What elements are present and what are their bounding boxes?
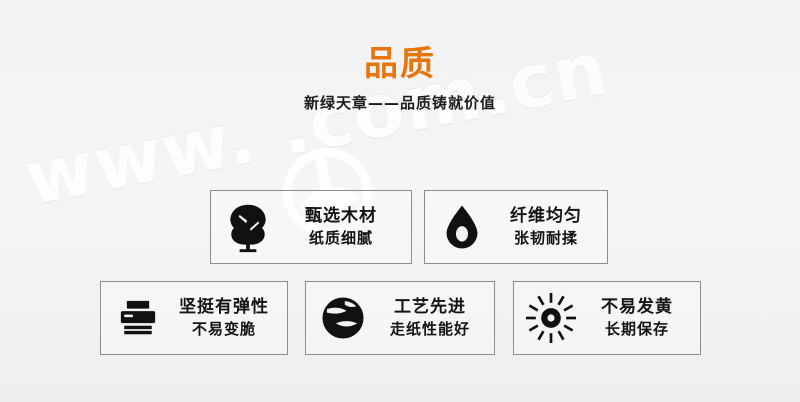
feature-card-tree-texts: 甄选木材 纸质细腻	[277, 205, 411, 248]
feature-card-sun-line1: 不易发黄	[601, 296, 673, 319]
feature-card-printer-line1: 坚挺有弹性	[179, 296, 269, 319]
feature-card-sun-texts: 不易发黄 长期保存	[580, 296, 700, 339]
feature-card-droplet: 纤维均匀 张韧耐揉	[424, 190, 608, 264]
feature-card-sun: 不易发黄 长期保存	[513, 281, 701, 355]
feature-card-droplet-texts: 纤维均匀 张韧耐揉	[491, 205, 607, 248]
feature-card-droplet-line2: 张韧耐揉	[514, 228, 578, 248]
globe-icon-glyph	[318, 293, 368, 343]
sun-icon	[522, 289, 580, 347]
feature-card-printer-texts: 坚挺有弹性 不易变脆	[167, 296, 287, 339]
feature-card-globe-line2: 走纸性能好	[390, 319, 470, 339]
poster-canvas: www. .com.cn 品质 新绿天章——品质铸就价值	[0, 0, 800, 402]
page-title: 品质	[0, 36, 800, 85]
feature-card-globe: 工艺先进 走纸性能好	[305, 281, 495, 355]
droplet-icon	[433, 198, 491, 256]
feature-card-printer-line2: 不易变脆	[192, 319, 256, 339]
feature-card-tree-line2: 纸质细腻	[309, 228, 373, 248]
printer-icon-glyph	[114, 294, 162, 342]
feature-card-tree-line1: 甄选木材	[305, 205, 377, 228]
feature-card-globe-line1: 工艺先进	[394, 296, 466, 319]
globe-icon	[314, 289, 372, 347]
printer-icon	[109, 289, 167, 347]
page-subtitle: 新绿天章——品质铸就价值	[0, 92, 800, 113]
feature-card-printer: 坚挺有弹性 不易变脆	[100, 281, 288, 355]
feature-card-droplet-line1: 纤维均匀	[510, 205, 582, 228]
sun-icon-glyph	[526, 293, 576, 343]
tree-icon-glyph	[222, 201, 274, 253]
feature-card-tree: 甄选木材 纸质细腻	[210, 190, 412, 264]
droplet-icon-glyph	[438, 203, 486, 251]
tree-icon	[219, 198, 277, 256]
feature-card-sun-line2: 长期保存	[605, 319, 669, 339]
feature-card-globe-texts: 工艺先进 走纸性能好	[372, 296, 494, 339]
